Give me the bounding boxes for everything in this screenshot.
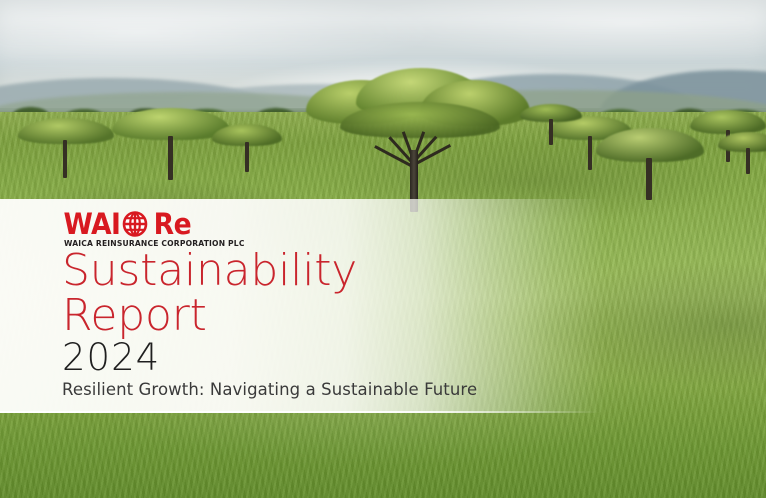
logo-word-right: Re <box>154 210 192 238</box>
tree-canopy <box>718 132 766 152</box>
tree-trunk <box>168 136 173 180</box>
report-year: 2024 <box>62 338 160 378</box>
tree-canopy <box>596 128 704 162</box>
title-line-1: Sustainability <box>62 245 357 296</box>
tree-trunk <box>646 158 652 200</box>
tree-trunk <box>746 148 750 174</box>
waica-re-logo[interactable]: WAI Re WAICA REINSURANCE CORPORATIO <box>64 210 264 248</box>
tree-trunk <box>549 119 553 145</box>
cloud-band <box>0 6 766 32</box>
acacia-tree <box>212 124 282 174</box>
globe-icon <box>121 211 149 237</box>
cover-content: WAI Re WAICA REINSURANCE CORPORATIO <box>0 199 766 413</box>
report-cover-page: WAI Re WAICA REINSURANCE CORPORATIO <box>0 0 766 498</box>
acacia-tree <box>718 132 766 178</box>
logo-wordmark: WAI Re <box>64 210 264 238</box>
acacia-tree <box>596 128 704 202</box>
title-line-2: Report <box>62 293 357 338</box>
main-acacia-tree <box>300 58 530 213</box>
tree-trunk <box>245 142 249 172</box>
tree-trunk <box>63 140 67 178</box>
report-subtitle: Resilient Growth: Navigating a Sustainab… <box>62 380 477 400</box>
acacia-tree <box>520 104 582 148</box>
logo-word-left: WAI <box>63 210 120 238</box>
acacia-tree <box>18 118 114 180</box>
tree-trunk <box>588 136 592 170</box>
page-title: Sustainability Report <box>62 248 357 338</box>
cloud-band <box>0 40 766 58</box>
